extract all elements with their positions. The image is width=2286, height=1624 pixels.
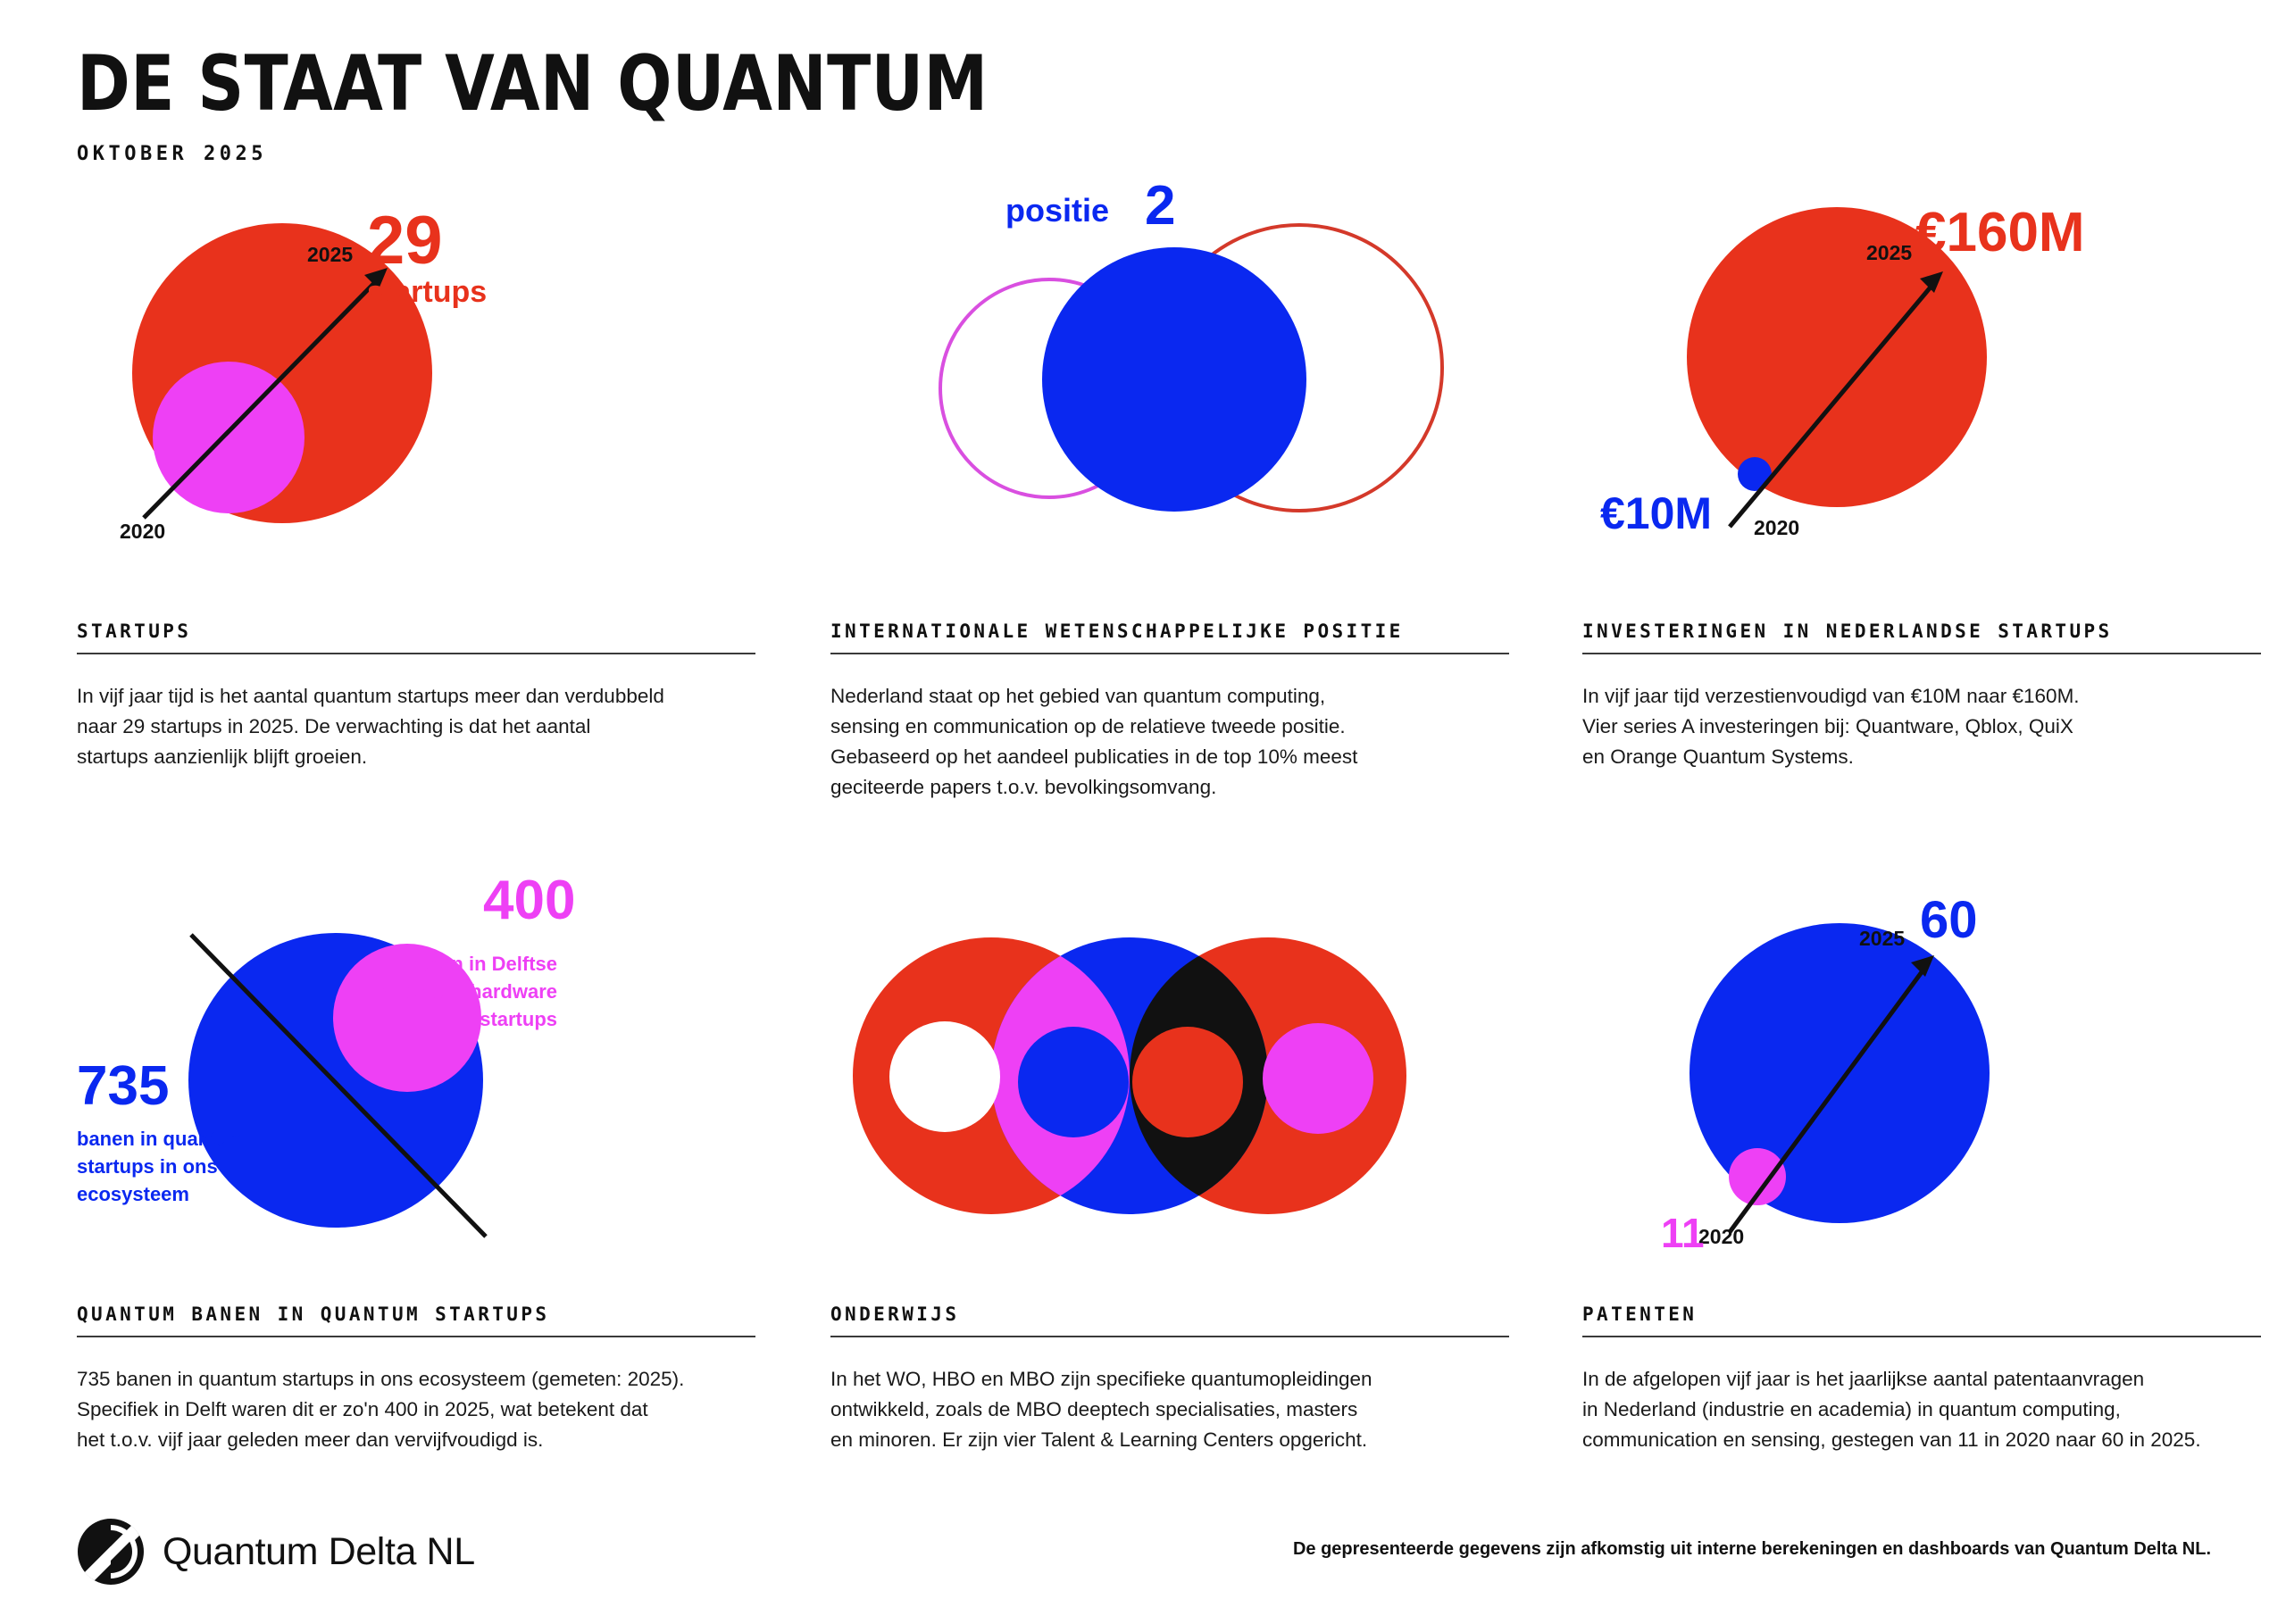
section-positie: INTERNATIONALE WETENSCHAPPELIJKE POSITIE… (830, 620, 1509, 803)
body-line: Specifiek in Delft waren dit er zo'n 400… (77, 1395, 755, 1425)
logo-svg (77, 1518, 145, 1586)
caption-line: banen in quantum (77, 1125, 246, 1153)
caption-line: startups (345, 1005, 557, 1033)
body-line: In vijf jaar tijd is het aantal quantum … (77, 681, 755, 712)
startups-bubble-chart: 2025 2020 29 startups (77, 170, 755, 598)
quantum-delta-logo-icon (77, 1518, 145, 1586)
section-divider (77, 653, 755, 654)
investeringen-bubble-chart: 2025 2020 €160M €10M (1582, 170, 2261, 598)
body-line: het t.o.v. vijf jaar geleden meer dan ve… (77, 1425, 755, 1455)
venn-inner-dot-magenta (1263, 1023, 1373, 1134)
panel-patenten-viz: 2025 2020 60 11 (1582, 857, 2261, 1277)
section-divider (830, 653, 1509, 654)
investeringen-end-value: €160M (1915, 205, 2085, 261)
caption-line: quantum hardware (345, 978, 557, 1005)
section-divider (77, 1336, 755, 1337)
section-title-startups: STARTUPS (77, 620, 755, 642)
section-divider (830, 1336, 1509, 1337)
section-body-positie: Nederland staat op het gebied van quantu… (830, 681, 1509, 803)
positie-circle-nl (1042, 247, 1306, 512)
section-investeringen: INVESTERINGEN IN NEDERLANDSE STARTUPS In… (1582, 620, 2261, 772)
venn-inner-dot-red (1132, 1027, 1243, 1137)
patenten-label-2025: 2025 (1859, 927, 1905, 951)
panel-banen-viz: 400 banen in Delftse quantum hardware st… (77, 857, 755, 1277)
header: DE STAAT VAN QUANTUM OKTOBER 2025 (77, 43, 1056, 165)
body-line: sensing en communication op de relatieve… (830, 712, 1509, 742)
banen-400-value: 400 (483, 873, 575, 929)
body-line: communication en sensing, gestegen van 1… (1582, 1425, 2261, 1455)
panel-positie-viz: positie 2 (830, 170, 1509, 598)
section-banen: QUANTUM BANEN IN QUANTUM STARTUPS 735 ba… (77, 1303, 755, 1455)
positie-bubble-chart: positie 2 (830, 170, 1509, 598)
positie-prefix: positie (1005, 195, 1109, 227)
banen-400-caption: banen in Delftse quantum hardware startu… (345, 950, 557, 1033)
body-line: ontwikkeld, zoals de MBO deeptech specia… (830, 1395, 1509, 1425)
body-line: In de afgelopen vijf jaar is het jaarlij… (1582, 1364, 2261, 1395)
section-divider (1582, 653, 2261, 654)
investeringen-start-value: €10M (1600, 491, 1712, 536)
body-line: naar 29 startups in 2025. De verwachting… (77, 712, 755, 742)
startups-label-2020: 2020 (120, 520, 165, 544)
panel-startups-viz: 2025 2020 29 startups (77, 170, 755, 598)
section-patenten: PATENTEN In de afgelopen vijf jaar is he… (1582, 1303, 2261, 1455)
startups-label-2025: 2025 (307, 243, 353, 267)
section-title-patenten: PATENTEN (1582, 1303, 2261, 1325)
body-line: startups aanzienlijk blijft groeien. (77, 742, 755, 772)
caption-line: ecosysteem (77, 1180, 246, 1208)
venn-inner-dot-white (889, 1021, 1000, 1132)
body-line: en Orange Quantum Systems. (1582, 742, 2261, 772)
section-onderwijs: ONDERWIJS In het WO, HBO en MBO zijn spe… (830, 1303, 1509, 1455)
body-line: Gebaseerd op het aandeel publicaties in … (830, 742, 1509, 772)
body-line: en minoren. Er zijn vier Talent & Learni… (830, 1425, 1509, 1455)
brand-logo: Quantum Delta NL (77, 1518, 475, 1586)
brand-name: Quantum Delta NL (163, 1530, 475, 1574)
section-body-patenten: In de afgelopen vijf jaar is het jaarlij… (1582, 1364, 2261, 1455)
page-title: DE STAAT VAN QUANTUM (77, 43, 989, 125)
caption-line: banen in Delftse (345, 950, 557, 978)
onderwijs-svg (830, 857, 1509, 1277)
section-title-investeringen: INVESTERINGEN IN NEDERLANDSE STARTUPS (1582, 620, 2261, 642)
startups-2020-circle (153, 362, 305, 513)
section-title-positie: INTERNATIONALE WETENSCHAPPELIJKE POSITIE (830, 620, 1509, 642)
section-body-startups: In vijf jaar tijd is het aantal quantum … (77, 681, 755, 772)
patenten-start-value: 11 (1661, 1212, 1705, 1253)
venn-inner-dot-blue (1018, 1027, 1129, 1137)
section-title-banen: QUANTUM BANEN IN QUANTUM STARTUPS (77, 1303, 755, 1325)
panel-onderwijs-viz (830, 857, 1509, 1277)
banen-svg (77, 857, 755, 1277)
section-body-banen: 735 banen in quantum startups in ons eco… (77, 1364, 755, 1455)
body-line: in Nederland (industrie en academia) in … (1582, 1395, 2261, 1425)
body-line: Nederland staat op het gebied van quantu… (830, 681, 1509, 712)
startups-value: 29 (367, 207, 443, 275)
body-line: geciteerde papers t.o.v. bevolkingsomvan… (830, 772, 1509, 803)
banen-735-value: 735 (77, 1059, 169, 1114)
positie-value: 2 (1145, 179, 1175, 234)
banen-bubble-chart: 400 banen in Delftse quantum hardware st… (77, 857, 755, 1277)
investeringen-label-2025: 2025 (1866, 241, 1912, 265)
onderwijs-venn-chart (830, 857, 1509, 1277)
page-subtitle: OKTOBER 2025 (77, 143, 1056, 165)
body-line: In het WO, HBO en MBO zijn specifieke qu… (830, 1364, 1509, 1395)
footer-disclaimer: De gepresenteerde gegevens zijn afkomsti… (1293, 1539, 2211, 1560)
section-body-onderwijs: In het WO, HBO en MBO zijn specifieke qu… (830, 1364, 1509, 1455)
startups-value-caption: startups (367, 277, 487, 307)
banen-735-caption: banen in quantum startups in ons ecosyst… (77, 1125, 246, 1208)
infographic-page: DE STAAT VAN QUANTUM OKTOBER 2025 2025 2… (0, 0, 2286, 1624)
patenten-end-value: 60 (1920, 895, 1978, 946)
body-line: 735 banen in quantum startups in ons eco… (77, 1364, 755, 1395)
investeringen-label-2020: 2020 (1754, 516, 1799, 540)
section-startups: STARTUPS In vijf jaar tijd is het aantal… (77, 620, 755, 772)
body-line: Vier series A investeringen bij: Quantwa… (1582, 712, 2261, 742)
section-title-onderwijs: ONDERWIJS (830, 1303, 1509, 1325)
footer: Quantum Delta NL De gepresenteerde gegev… (77, 1518, 2211, 1598)
patenten-label-2020: 2020 (1698, 1225, 1744, 1249)
section-body-investeringen: In vijf jaar tijd verzestienvoudigd van … (1582, 681, 2261, 772)
body-line: In vijf jaar tijd verzestienvoudigd van … (1582, 681, 2261, 712)
patenten-bubble-chart: 2025 2020 60 11 (1582, 857, 2261, 1277)
caption-line: startups in ons (77, 1153, 246, 1180)
section-divider (1582, 1336, 2261, 1337)
panel-investeringen-viz: 2025 2020 €160M €10M (1582, 170, 2261, 598)
